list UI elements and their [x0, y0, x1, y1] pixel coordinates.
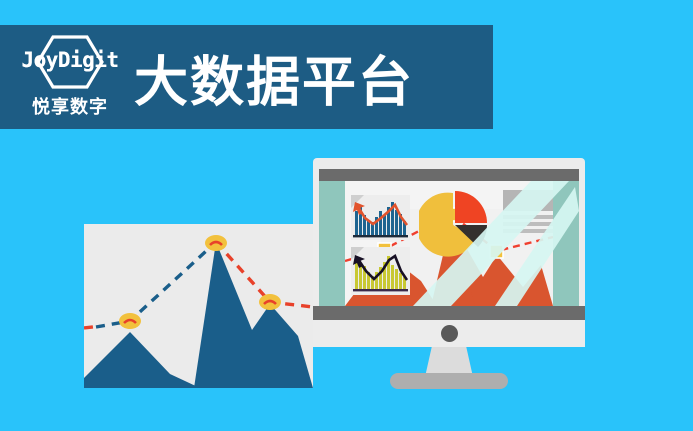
monitor-bottom-bezel — [313, 306, 585, 320]
logo-subtitle: 悦享数字 — [32, 93, 108, 119]
left-panel-chart — [84, 224, 313, 388]
header-banner: JoyDigit 悦享数字 大数据平台 — [0, 25, 493, 129]
brand-logo: JoyDigit 悦享数字 — [14, 33, 126, 121]
text-block-row — [503, 222, 553, 226]
monitor-stand-base — [390, 373, 508, 389]
pie-chart — [419, 191, 487, 259]
data-point-marker — [490, 245, 503, 258]
bar-chart-blue-card — [351, 195, 410, 240]
screen-side-strip-right — [553, 181, 579, 306]
page-title: 大数据平台 — [134, 38, 414, 117]
bar-chart-olive — [351, 247, 410, 295]
trend-line — [96, 242, 216, 327]
text-block-row — [503, 229, 553, 233]
bar-chart-olive-card — [351, 247, 410, 295]
text-block-header — [503, 190, 553, 211]
desktop-monitor — [313, 158, 585, 388]
logo-hexagon-wrap: JoyDigit — [16, 35, 124, 89]
dashboard-content — [345, 181, 553, 306]
logo-wordmark: JoyDigit — [16, 48, 124, 72]
poster-canvas: JoyDigit 悦享数字 大数据平台 — [0, 0, 693, 431]
bar-chart-blue — [351, 195, 410, 240]
monitor-top-bezel — [319, 169, 579, 181]
text-block-row — [503, 215, 553, 219]
pie-slice-b — [455, 191, 487, 223]
mountain-chart-panel — [84, 224, 313, 388]
text-block-widget — [503, 190, 553, 230]
monitor-screen — [319, 181, 579, 306]
power-indicator-icon — [441, 325, 458, 342]
screen-side-strip-left — [319, 181, 345, 306]
